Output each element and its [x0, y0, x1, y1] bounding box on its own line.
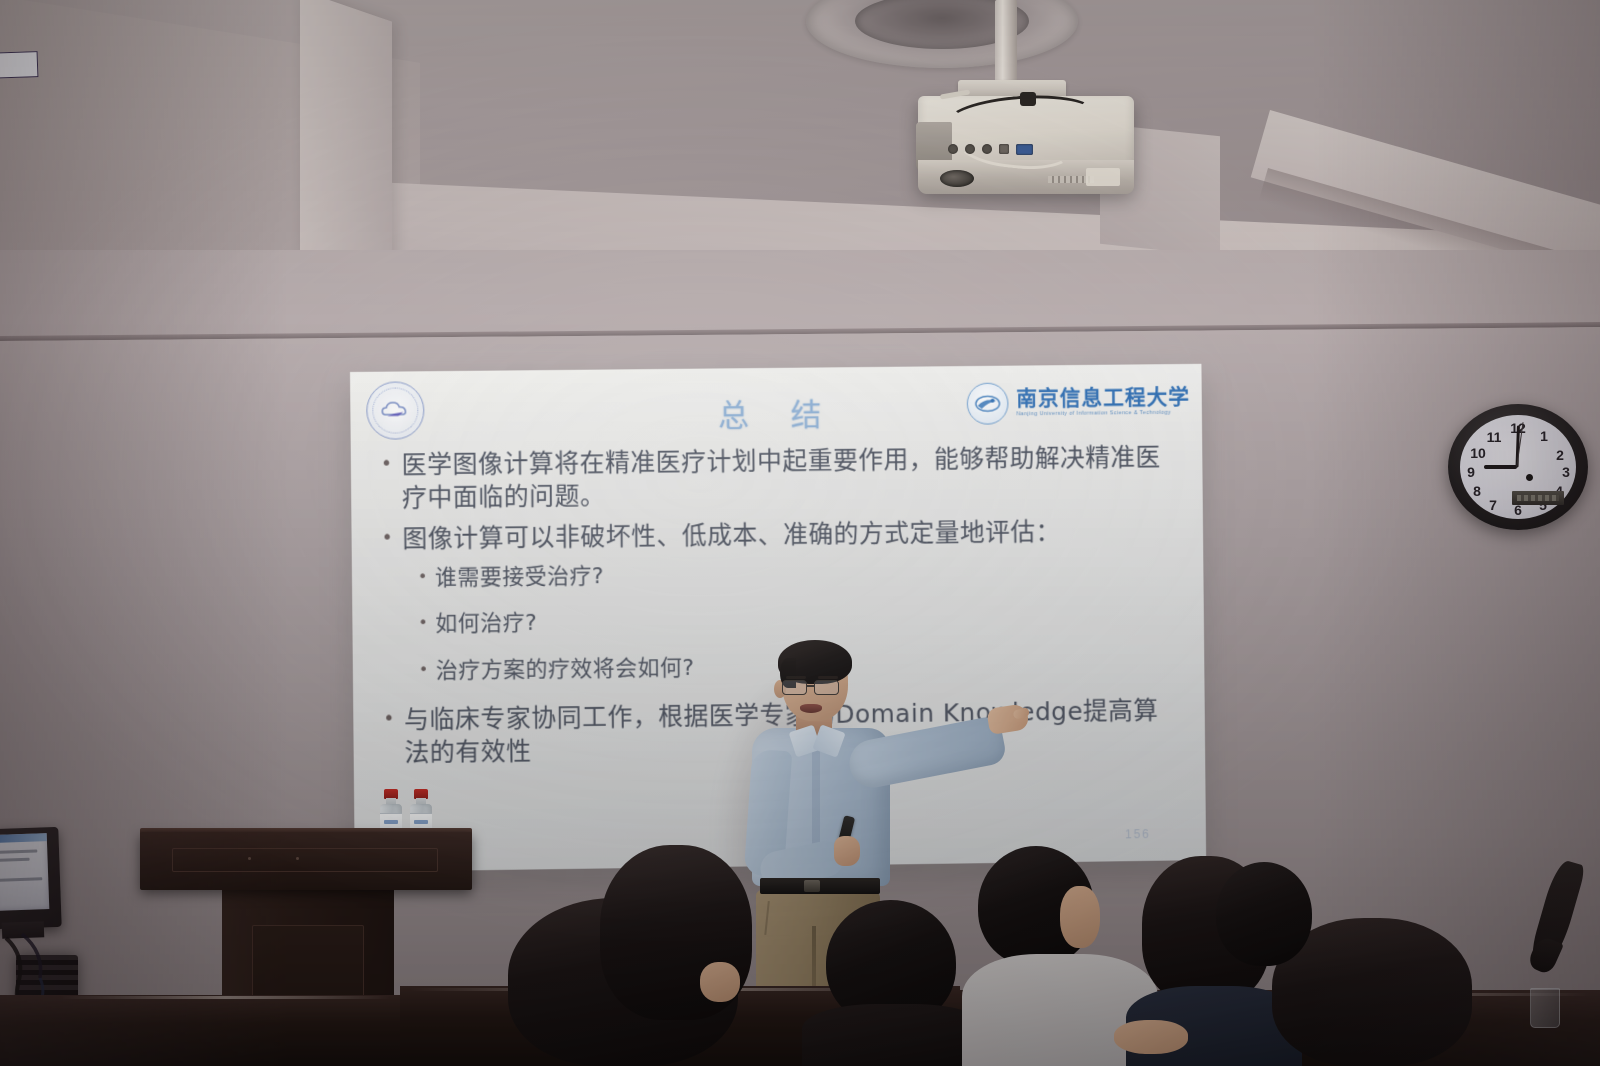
university-swoosh-glyph: [974, 394, 1002, 414]
audience-hand: [700, 962, 740, 1002]
clock-numeral: 3: [1562, 464, 1570, 480]
presenter-trouser-pocket: [764, 901, 789, 937]
clock-center-hub: [1526, 474, 1533, 481]
university-name-en: Nanjing University of Information Scienc…: [1016, 411, 1190, 418]
slide-bullet: • 图像计算可以非破坏性、低成本、准确的方式定量地评估：: [381, 515, 1167, 556]
slide-sub-bullet: • 如何治疗?: [418, 602, 1168, 638]
bullet-text: 谁需要接受治疗?: [435, 563, 604, 592]
bullet-text: 图像计算可以非破坏性、低成本、准确的方式定量地评估：: [402, 515, 1168, 556]
presenter-mouth: [800, 704, 822, 713]
glasses-lens-right: [814, 680, 839, 695]
lectern-screw: [296, 857, 299, 860]
clock-numeral: 1: [1540, 428, 1548, 444]
lecture-hall-scene: 总 结 南京信息工程大学 Nanjing University of Infor…: [0, 0, 1600, 1066]
clock-numeral: 10: [1470, 445, 1486, 461]
desk-edge-highlight: [60, 996, 390, 999]
clock-numeral: 2: [1556, 447, 1564, 463]
university-logo-mark: [967, 383, 1009, 425]
clock-numeral: 11: [1487, 429, 1502, 445]
clock-hour-hand: [1484, 465, 1517, 469]
audience-member-hand: [700, 962, 740, 1002]
drinking-glass: [1530, 988, 1560, 1028]
bullet-marker: •: [381, 524, 393, 553]
projector-port-aux: [982, 144, 992, 154]
bullet-marker: •: [418, 611, 428, 635]
projector-rating-sticker: [1086, 168, 1120, 186]
glasses-lens-left: [782, 680, 807, 695]
audience-arm: [1114, 1020, 1188, 1054]
projector-lens: [940, 170, 974, 187]
monitor-secondary-window[interactable]: [0, 51, 38, 79]
monitor-text-line: [0, 858, 30, 862]
clock-numeral: 8: [1473, 483, 1481, 499]
projector-mount-pole: [995, 0, 1017, 86]
presenter-left-hand: [834, 836, 860, 866]
presenter-eyebrow-left: [786, 676, 806, 679]
slide-bullet: • 医学图像计算将在精准医疗计划中起重要作用，能够帮助解决精准医疗中面临的问题。: [381, 442, 1168, 515]
projector-port-audio: [948, 144, 958, 154]
lectern-front-panel: [172, 848, 438, 872]
university-name-cn: 南京信息工程大学: [1016, 387, 1190, 410]
presenter-monitor-screen[interactable]: [0, 833, 49, 911]
clock-numeral: 7: [1489, 497, 1497, 513]
audience-face-side: [1060, 886, 1100, 948]
clock-brand-window: [1512, 491, 1564, 505]
bullet-marker: •: [381, 450, 393, 479]
bullet-marker: •: [418, 565, 428, 589]
presenter-belt-buckle: [804, 880, 820, 892]
presenter-right-hand: [986, 703, 1030, 735]
audience-shoulders: [802, 1004, 988, 1066]
clock-numeral: 9: [1467, 464, 1475, 480]
projector-port-vga: [1016, 144, 1033, 155]
monitor-text-line: [0, 877, 42, 881]
audience-head: [1216, 862, 1312, 966]
bullet-marker: •: [419, 658, 429, 682]
ceiling-drop-beam: [300, 0, 392, 287]
clock-face: 12 1 2 3 4 5 6 7 8 9 10 11: [1460, 415, 1576, 519]
presenter-eyebrow-right: [818, 676, 838, 679]
audience-member: [818, 900, 968, 1066]
projector-port-video: [965, 144, 975, 154]
bullet-text: 如何治疗?: [435, 610, 537, 639]
monitor-text-line: [0, 849, 37, 853]
bullet-text: 医学图像计算将在精准医疗计划中起重要作用，能够帮助解决精准医疗中面临的问题。: [401, 442, 1167, 515]
audience-desk: [0, 995, 460, 1066]
bullet-text: 治疗方案的疗效将会如何?: [436, 654, 695, 685]
lectern-screw: [248, 857, 251, 860]
slide-page-number: 156: [1125, 827, 1151, 841]
projector-port-panel: [948, 140, 1098, 158]
bullet-marker: •: [383, 704, 395, 733]
nanjing-university-logo: 南京信息工程大学 Nanjing University of Informati…: [967, 376, 1191, 430]
projector-port-hdmi: [999, 144, 1009, 154]
audience-member: [1216, 862, 1328, 992]
monitor-window-titlebar: [0, 833, 47, 843]
wall-clock: 12 1 2 3 4 5 6 7 8 9 10 11: [1448, 404, 1588, 530]
slide-sub-bullet: • 谁需要接受治疗?: [418, 556, 1168, 592]
presenter-belt: [760, 878, 880, 894]
glasses-icon: [782, 680, 848, 696]
raised-arm: [1524, 860, 1594, 980]
